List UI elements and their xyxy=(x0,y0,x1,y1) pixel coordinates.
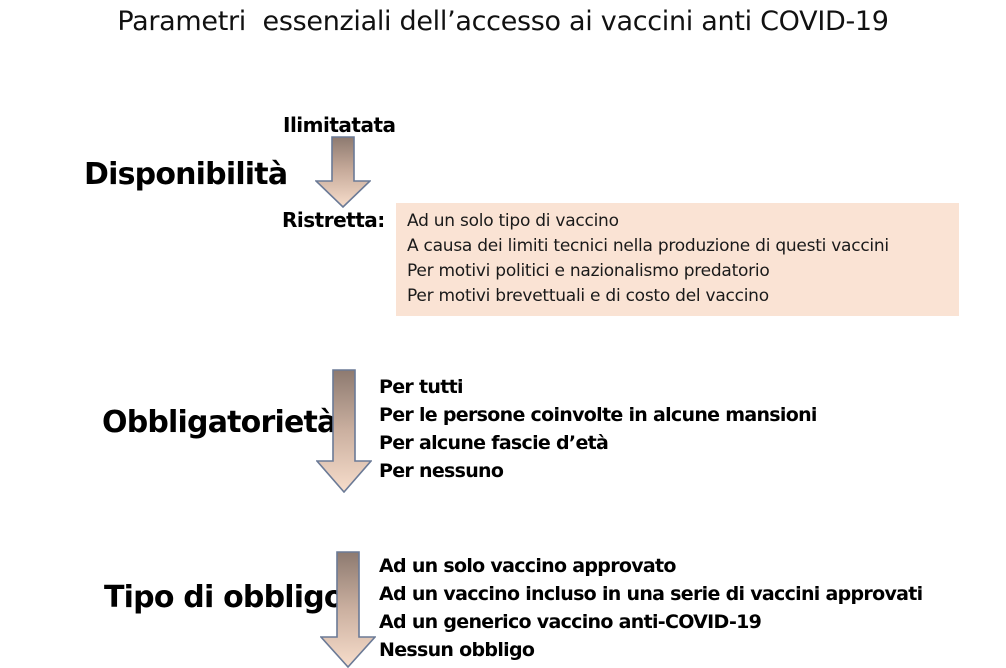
down-arrow-glyph xyxy=(320,551,376,668)
list-item: Ad un generico vaccino anti-COVID-19 xyxy=(379,608,922,636)
list-item: Per tutti xyxy=(379,373,817,401)
list-item: Per motivi brevettuali e di costo del va… xyxy=(407,284,953,309)
availability-reason-list: Ad un solo tipo di vaccino A causa dei l… xyxy=(407,209,953,309)
obligation-scope-list: Per tutti Per le persone coinvolte in al… xyxy=(379,373,817,485)
section-label-obligation: Obbligatorietà xyxy=(102,405,337,440)
list-item: Per le persone coinvolte in alcune mansi… xyxy=(379,401,817,429)
down-arrow-glyph xyxy=(316,369,372,493)
section-label-availability: Disponibilità xyxy=(84,157,287,192)
list-item: Ad un vaccino incluso in una serie di va… xyxy=(379,580,922,608)
list-item: Nessun obbligo xyxy=(379,636,922,664)
arrow-caption-restricted: Ristretta: xyxy=(282,208,385,232)
list-item: Per alcune fascie d’età xyxy=(379,429,817,457)
down-arrow-glyph xyxy=(315,136,371,208)
availability-callout-box: Ad un solo tipo di vaccino A causa dei l… xyxy=(396,203,959,316)
list-item: Ad un solo vaccino approvato xyxy=(379,552,922,580)
section-label-obligation-type: Tipo di obbligo xyxy=(104,580,344,615)
page-title: Parametri essenziali dell’accesso ai vac… xyxy=(0,6,1006,37)
down-arrow-icon xyxy=(315,136,371,208)
slide-canvas: Parametri essenziali dell’accesso ai vac… xyxy=(0,0,1006,668)
list-item: A causa dei limiti tecnici nella produzi… xyxy=(407,234,953,259)
list-item: Per motivi politici e nazionalismo preda… xyxy=(407,259,953,284)
arrow-caption-unlimited: Ilimitatata xyxy=(283,113,396,137)
list-item: Per nessuno xyxy=(379,457,817,485)
list-item: Ad un solo tipo di vaccino xyxy=(407,209,953,234)
down-arrow-icon xyxy=(320,551,376,668)
down-arrow-icon xyxy=(316,369,372,493)
obligation-type-list: Ad un solo vaccino approvato Ad un vacci… xyxy=(379,552,922,664)
